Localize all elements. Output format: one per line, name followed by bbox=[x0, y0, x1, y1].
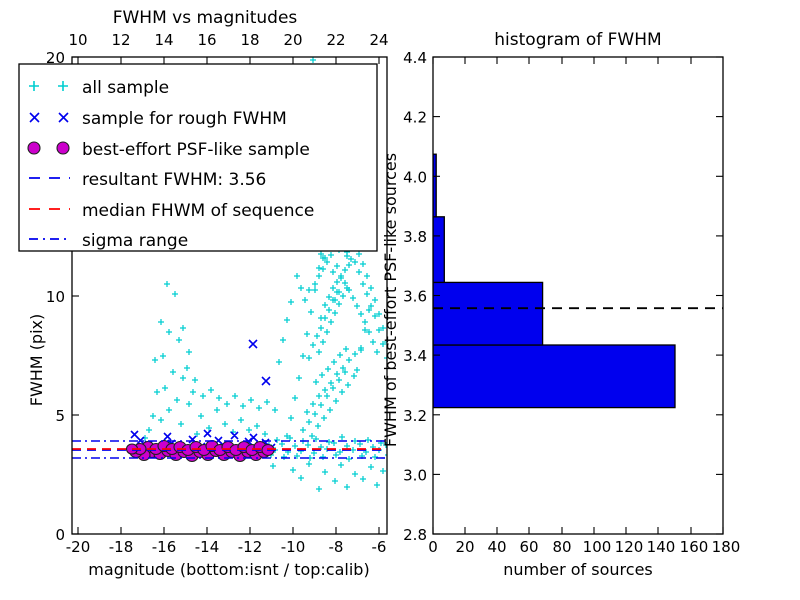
y-tick-label: 3.8 bbox=[403, 228, 427, 246]
bottom-tick-label: -16 bbox=[152, 538, 177, 556]
right-panel-xlabel: number of sources bbox=[503, 560, 653, 579]
x-tick-label: 0 bbox=[428, 538, 438, 556]
legend-label: resultant FWHM: 3.56 bbox=[82, 170, 266, 190]
y-tick-label: 4.4 bbox=[403, 49, 427, 67]
x-tick-label: 120 bbox=[615, 538, 644, 556]
histogram-bar bbox=[433, 282, 543, 345]
x-tick-label: 180 bbox=[712, 538, 741, 556]
x-tick-label: 40 bbox=[487, 538, 506, 556]
bottom-tick-label: -14 bbox=[195, 538, 220, 556]
legend-label: sigma range bbox=[82, 231, 188, 251]
x-tick-label: 80 bbox=[552, 538, 571, 556]
legend-label: sample for rough FWHM bbox=[82, 109, 287, 129]
left-panel-xlabel: magnitude (bottom:isnt / top:calib) bbox=[88, 560, 369, 579]
right-panel-y-tick-labels: 2.8 3.0 3.2 3.4 3.6 3.8 4.0 4.2 4.4 bbox=[403, 49, 427, 544]
top-tick-label: 22 bbox=[326, 31, 345, 49]
bottom-tick-label: -8 bbox=[329, 538, 344, 556]
y-tick-label: 3.2 bbox=[403, 407, 427, 425]
top-tick-label: 10 bbox=[68, 31, 87, 49]
figure-canvas: FWHM vs magnitudes 10 12 14 16 18 20 22 … bbox=[0, 0, 800, 600]
x-tick-label: 100 bbox=[583, 538, 612, 556]
left-panel-title: FWHM vs magnitudes bbox=[113, 8, 298, 28]
right-panel-title: histogram of FWHM bbox=[494, 30, 661, 50]
y-tick-label: 3.0 bbox=[403, 466, 427, 484]
left-panel-ylabel: FWHM (pix) bbox=[27, 314, 46, 407]
x-tick-label: 160 bbox=[680, 538, 709, 556]
y-tick-label: 5 bbox=[55, 407, 65, 425]
top-tick-label: 12 bbox=[111, 31, 130, 49]
bottom-tick-label: -18 bbox=[109, 538, 134, 556]
bottom-tick-label: -10 bbox=[281, 538, 306, 556]
top-tick-label: 14 bbox=[154, 31, 173, 49]
right-panel-ylabel: FWHM of best-effort PSF-like sources bbox=[381, 153, 400, 447]
top-tick-label: 24 bbox=[369, 31, 388, 49]
histogram-bar bbox=[433, 217, 444, 283]
legend-label: best-effort PSF-like sample bbox=[82, 140, 310, 160]
legend-label: all sample bbox=[82, 78, 169, 98]
y-tick-label: 3.4 bbox=[403, 347, 427, 365]
legend: all sample sample for rough FWHM best-ef… bbox=[19, 64, 377, 251]
x-tick-label: 140 bbox=[647, 538, 676, 556]
y-tick-label: 3.6 bbox=[403, 288, 427, 306]
legend-label: median FHWM of sequence bbox=[82, 201, 314, 221]
bottom-tick-label: -6 bbox=[372, 538, 387, 556]
x-tick-label: 60 bbox=[519, 538, 538, 556]
y-tick-label: 10 bbox=[46, 288, 65, 306]
histogram-bar bbox=[433, 345, 675, 408]
y-tick-label: 2.8 bbox=[403, 526, 427, 544]
x-tick-label: 20 bbox=[455, 538, 474, 556]
bottom-tick-label: -20 bbox=[66, 538, 91, 556]
top-tick-label: 18 bbox=[240, 31, 259, 49]
bottom-tick-label: -12 bbox=[238, 538, 263, 556]
y-tick-label: 4.2 bbox=[403, 109, 427, 127]
y-tick-label: 4.0 bbox=[403, 168, 427, 186]
y-tick-label: 0 bbox=[55, 526, 65, 544]
top-tick-label: 16 bbox=[197, 31, 216, 49]
top-tick-label: 20 bbox=[283, 31, 302, 49]
